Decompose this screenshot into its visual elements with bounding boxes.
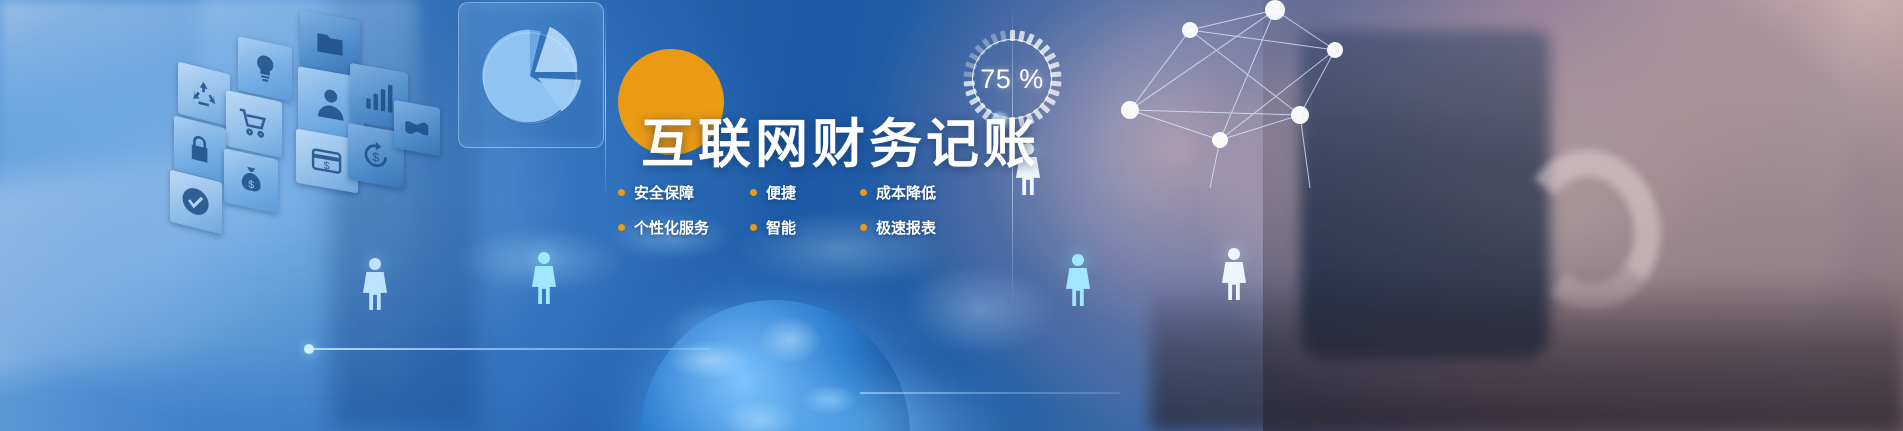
recycle-icon [178, 62, 230, 127]
hud-line-endpoint [304, 344, 314, 354]
hud-line-bottom-2 [860, 392, 1120, 394]
feature-item-cost-reduction[interactable]: 成本降低 [860, 182, 936, 203]
feature-label: 安全保障 [634, 182, 694, 203]
lightbulb-icon [238, 36, 292, 101]
svg-text:$: $ [372, 150, 379, 165]
feature-item-fast-reports[interactable]: 极速报表 [860, 217, 936, 238]
floor-shadow [1150, 281, 1903, 431]
person-body [363, 272, 387, 310]
person-figure-4 [1066, 254, 1090, 306]
feature-item-intelligent[interactable]: 智能 [750, 217, 860, 238]
svg-text:$: $ [324, 160, 330, 173]
person-body [532, 266, 556, 304]
feature-label: 便捷 [766, 182, 796, 203]
dollar-bill-icon [394, 100, 440, 156]
person-head [369, 258, 381, 270]
bullet-dot-icon [618, 189, 625, 196]
bullet-dot-icon [860, 189, 867, 196]
divider-line-left [605, 0, 606, 200]
feature-label: 成本降低 [876, 182, 936, 203]
bullet-dot-icon [750, 189, 757, 196]
pie-chart [473, 15, 591, 133]
feature-label: 极速报表 [876, 217, 936, 238]
money-bag-icon: $ [224, 148, 278, 213]
app-icon-cube: $ $ $ [168, 8, 418, 223]
bullet-dot-icon [618, 224, 625, 231]
hud-line-bottom [310, 348, 710, 350]
feature-label: 智能 [766, 217, 796, 238]
network-graph [1060, 0, 1360, 190]
person-head [1228, 248, 1240, 260]
feature-row-1: 安全保障 便捷 成本降低 [618, 182, 978, 203]
bullet-dot-icon [750, 224, 757, 231]
person-head [538, 252, 550, 264]
person-figure-5 [1222, 248, 1246, 300]
person-figure-1 [363, 258, 387, 310]
pie-chart-panel [458, 2, 604, 148]
shopping-cart-icon [226, 90, 282, 158]
svg-text:$: $ [248, 178, 254, 191]
finance-banner: $ $ $ 75 % [0, 0, 1903, 431]
feature-label: 个性化服务 [634, 217, 709, 238]
bullet-dot-icon [860, 224, 867, 231]
person-body [1066, 268, 1090, 306]
banner-title: 互联网财务记账 [641, 102, 1040, 178]
feature-item-personalized[interactable]: 个性化服务 [618, 217, 750, 238]
feature-list: 安全保障 便捷 成本降低 个性化服务 智能 极速报表 [618, 182, 978, 252]
feature-row-2: 个性化服务 智能 极速报表 [618, 217, 978, 238]
person-body [1222, 262, 1246, 300]
person-head [1072, 254, 1084, 266]
person-figure-2 [532, 252, 556, 304]
feature-item-security[interactable]: 安全保障 [618, 182, 750, 203]
feature-item-convenient[interactable]: 便捷 [750, 182, 860, 203]
